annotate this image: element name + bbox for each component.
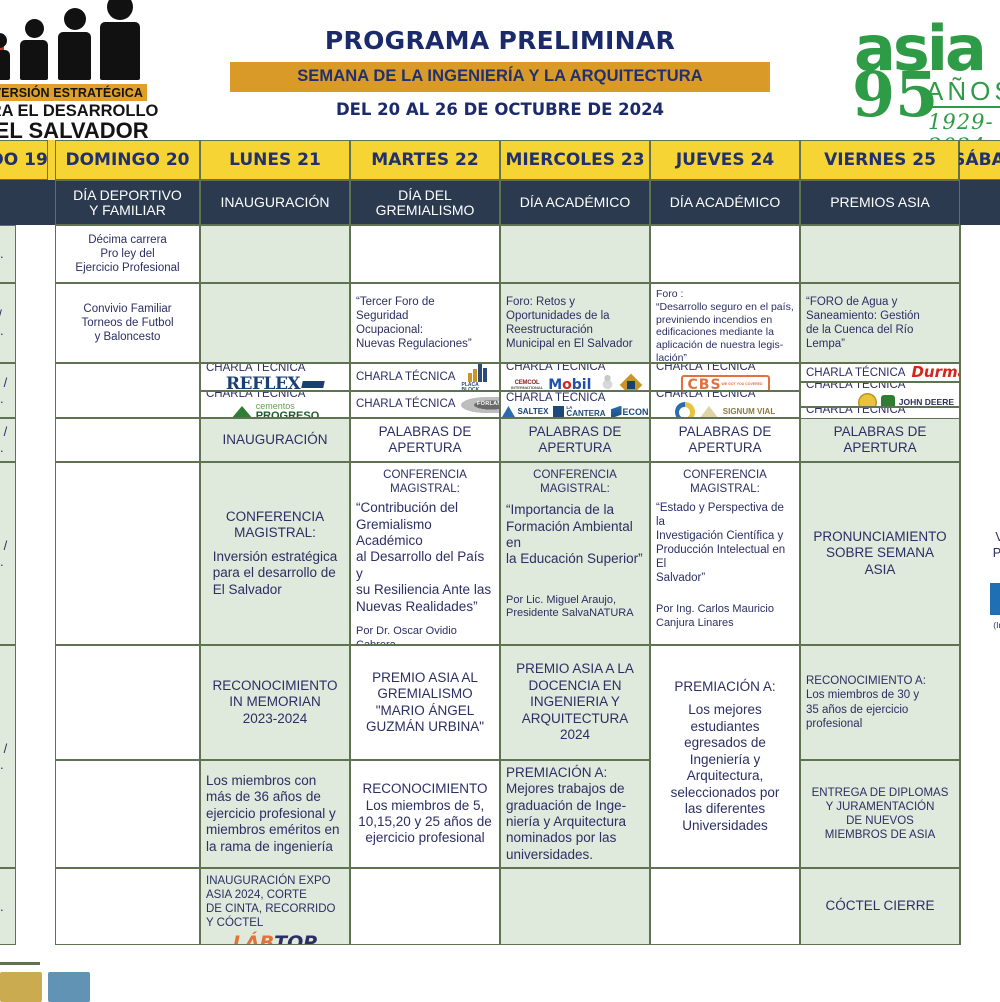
time-slot-2: m. / m.d. (0, 283, 16, 363)
time-slot-5: a.m. / p.m. (0, 462, 16, 645)
cell-miercoles-r2: Foro: Retos y Oportunidades de la Reestr… (500, 283, 650, 363)
cell-lunes-expo: INAUGURACIÓN EXPO ASIA 2024, CORTE DE CI… (200, 868, 350, 945)
cell-domingo-r6 (55, 645, 200, 760)
theme-header-row: DÍA DEPORTIVO Y FAMILIAR INAUGURACIÓN DÍ… (0, 180, 1000, 225)
day-header-viernes-25: VIERNES 25 (800, 140, 960, 180)
cell-viernes-reconocimiento: RECONOCIMIENTO A: Los miembros de 30 y 3… (800, 645, 960, 760)
visita-planta-note: Visita Planta L (Incluye t (958, 530, 1000, 630)
sponsor-logos: FORLAND (461, 397, 500, 413)
cell-jueves-apertura: PALABRAS DE APERTURA (650, 418, 800, 462)
signum-vial-logo: SIGNUM VIAL (675, 402, 775, 418)
conferencia-heading: CONFERENCIA MAGISTRAL: (656, 468, 794, 496)
durman-logo: Durmanby aliaxis (911, 365, 960, 380)
cell-martes-reconocimiento: RECONOCIMIENTO Los miembros de 5, 10,15,… (350, 760, 500, 868)
color-swatch-blue (48, 972, 90, 1002)
cell-martes-r1 (350, 225, 500, 283)
labtop-logo: LÁBTOP (206, 932, 344, 945)
conferencia-heading: CONFERENCIA MAGISTRAL: (226, 509, 324, 542)
cell-lunes-memorian: RECONOCIMIENTO IN MEMORIAN 2023-2024 (200, 645, 350, 760)
theme-premios-asia: PREMIOS ASIA (800, 180, 960, 225)
cell-miercoles-premio-docencia: PREMIO ASIA A LA DOCENCIA EN INGENIERIA … (500, 645, 650, 760)
charla-label: CHARLA TÉCNICA (656, 391, 755, 401)
cell-jueves-r8 (650, 868, 800, 945)
day-header-domingo-20: DOMINGO 20 (55, 140, 200, 180)
conferencia-speaker: Por Dr. Oscar Ovidio Cabrera, Presidente… (356, 625, 494, 645)
cell-lunes-conferencia: CONFERENCIA MAGISTRAL: Inversión estraté… (200, 462, 350, 645)
theme-dia-deportivo: DÍA DEPORTIVO Y FAMILIAR (55, 180, 200, 225)
day-header-sabado-19: SÁBADO 19 (0, 140, 48, 180)
la-cantera-logo: LACANTERA (553, 406, 605, 418)
title-block: PROGRAMA PRELIMINAR SEMANA DE LA INGENIE… (230, 26, 770, 119)
diamond-sponsor-logo (620, 373, 643, 391)
sponsor-logos: CBSWE GOT YOU COVERED (656, 375, 794, 391)
saltex-logo: SALTEX (501, 406, 548, 418)
asia-anos-label: AÑOS (926, 76, 1000, 107)
people-figures-icon (0, 8, 148, 80)
cell-martes-r8 (350, 868, 500, 945)
premiacion-heading: PREMIACIÓN A: (674, 679, 775, 695)
charla-lunes-progreso: CHARLA TÉCNICA cementosPROGRESO (200, 391, 350, 418)
time-slot-7: p.m. (0, 868, 16, 945)
page-title: PROGRAMA PRELIMINAR (230, 26, 770, 55)
charla-label: CHARLA TÉCNICA (206, 391, 305, 401)
cell-martes-premio-gremialismo: PREMIO ASIA AL GREMIALISMO "MARIO ÁNGEL … (350, 645, 500, 760)
visita-planta-footnote: (Incluye t (958, 620, 1000, 630)
cell-viernes-r2: “FORO de Agua y Saneamiento: Gestión de … (800, 283, 960, 363)
michelin-logo: MICHELIN (596, 375, 618, 391)
premiacion-body: Los mejores estudiantes egresados de Ing… (671, 702, 780, 834)
day-header-miercoles-23: MIERCOLES 23 (500, 140, 650, 180)
john-deere-logo: JOHN DEERE (858, 393, 954, 407)
logo-band: INVERSIÓN ESTRATÉGICA (0, 84, 147, 101)
day-header-martes-22: MARTES 22 (350, 140, 500, 180)
conferencia-speaker: Por Ing. Carlos Mauricio Canjura Linares (656, 603, 794, 630)
day-header-lunes-21: LUNES 21 (200, 140, 350, 180)
schedule-grid: a.m. m. / m.d. a.m. / p.m. a.m. / p.m. a… (0, 225, 1000, 947)
sponsor-logos: PLACA BLOCK (461, 363, 494, 391)
theme-dia-academico-1: DÍA ACADÉMICO (500, 180, 650, 225)
sponsor-logos: SALTEX LACANTERA ECON (506, 406, 644, 418)
cell-miercoles-r1 (500, 225, 650, 283)
reflex-logo: REFLEX (226, 376, 324, 391)
cell-miercoles-r8 (500, 868, 650, 945)
conferencia-speaker: Por Lic. Miguel Araujo, Presidente Salva… (506, 594, 644, 621)
cell-domingo-r1: Décima carrera Pro ley del Ejercicio Pro… (55, 225, 200, 283)
cementos-progreso-logo: cementosPROGRESO (231, 402, 320, 418)
time-slot-3: a.m. / p.m. (0, 363, 16, 418)
cell-miercoles-conferencia: CONFERENCIA MAGISTRAL: “Importancia de l… (500, 462, 650, 645)
cell-viernes-pronunciamiento: PRONUNCIAMIENTO SOBRE SEMANA ASIA (800, 462, 960, 645)
subtitle-band: SEMANA DE LA INGENIERÍA Y LA ARQUITECTUR… (230, 62, 770, 92)
cell-domingo-r7 (55, 760, 200, 868)
conferencia-body: Inversión estratégica para el desarrollo… (213, 549, 338, 598)
sponsor-logos: CEMCOLINTERNATIONAL Mobil MICHELIN (506, 375, 644, 391)
sponsor-logos: REFLEX (206, 376, 344, 391)
cell-viernes-r1 (800, 225, 960, 283)
theme-dia-academico-2: DÍA ACADÉMICO (650, 180, 800, 225)
conferencia-heading: CONFERENCIA MAGISTRAL: (506, 468, 644, 496)
cell-jueves-r2: Foro : “Desarrollo seguro en el país, pr… (650, 283, 800, 363)
charla-lunes-reflex: CHARLA TÉCNICA REFLEX (200, 363, 350, 391)
visita-planta-logo (990, 583, 1000, 615)
charla-label: CHARLA TÉCNICA (806, 382, 905, 392)
charla-miercoles-cemcol: CHARLA TÉCNICA CEMCOLINTERNATIONAL Mobil… (500, 363, 650, 391)
charla-miercoles-saltex: CHARLA TÉCNICA SALTEX LACANTERA ECON (500, 391, 650, 418)
cell-lunes-r2 (200, 283, 350, 363)
charla-label: CHARLA TÉCNICA (806, 366, 905, 380)
time-slot-1: a.m. (0, 225, 16, 283)
color-swatch-gold (0, 972, 42, 1002)
conferencia-body: “Estado y Perspectiva de la Investigació… (656, 501, 794, 585)
placa-block-logo: PLACA BLOCK (461, 363, 494, 391)
cell-viernes-coctel: CÓCTEL CIERRE (800, 868, 960, 945)
charla-jueves-cbs: CHARLA TÉCNICA CBSWE GOT YOU COVERED (650, 363, 800, 391)
conferencia-body: “Contribución del Gremialismo Académico … (356, 500, 494, 615)
charla-viernes-durman: CHARLA TÉCNICA Durmanby aliaxis (800, 363, 960, 382)
cell-domingo-r5 (55, 462, 200, 645)
cell-lunes-inauguracion: INAUGURACIÓN (200, 418, 350, 462)
cell-domingo-r2: Convivio Familiar Torneos de Futbol y Ba… (55, 283, 200, 363)
visita-planta-text: Visita Planta L (958, 530, 1000, 577)
charla-martes-placablock: CHARLA TÉCNICA PLACA BLOCK (350, 363, 500, 391)
cbs-logo: CBSWE GOT YOU COVERED (681, 375, 770, 391)
conferencia-body: “Importancia de la Formación Ambiental e… (506, 502, 644, 568)
sponsor-logos: Durmanby aliaxis (911, 365, 960, 380)
charla-label: CHARLA TÉCNICA (506, 363, 605, 374)
charla-viernes-johndeere: CHARLA TÉCNICA JOHN DEERE (800, 382, 960, 407)
cell-domingo-r3 (55, 363, 200, 418)
theme-dia-gremialismo: DÍA DEL GREMIALISMO (350, 180, 500, 225)
poster-header: INVERSIÓN ESTRATÉGICA PARA EL DESARROLLO… (0, 0, 1000, 140)
charla-label: CHARLA TÉCNICA (656, 363, 755, 374)
cell-martes-conferencia: CONFERENCIA MAGISTRAL: “Contribución del… (350, 462, 500, 645)
day-header-jueves-24: JUEVES 24 (650, 140, 800, 180)
cell-lunes-r1 (200, 225, 350, 283)
cell-domingo-r4 (55, 418, 200, 462)
sponsor-logos: SIGNUM VIAL (656, 402, 794, 418)
page-dates: DEL 20 AL 26 DE OCTUBRE DE 2024 (230, 100, 770, 119)
cell-lunes-miembros: Los miembros con más de 36 años de ejerc… (200, 760, 350, 868)
page-subtitle: SEMANA DE LA INGENIERÍA Y LA ARQUITECTUR… (230, 67, 770, 86)
logo-band-text: INVERSIÓN ESTRATÉGICA (0, 86, 143, 100)
asia-rule-divider (926, 106, 1000, 108)
day-header-row: SÁBADO 19 DOMINGO 20 LUNES 21 MARTES 22 … (0, 140, 1000, 180)
charla-martes-forland: CHARLA TÉCNICA FORLAND (350, 391, 500, 418)
cell-miercoles-premiacion: PREMIACIÓN A: Mejores trabajos de gradua… (500, 760, 650, 868)
cemcol-logo: CEMCOLINTERNATIONAL (511, 380, 543, 390)
cell-viernes-diplomas: ENTREGA DE DIPLOMAS Y JURAMENTACIÓN DE N… (800, 760, 960, 868)
cell-martes-apertura: PALABRAS DE APERTURA (350, 418, 500, 462)
footer-divider (0, 962, 40, 965)
program-poster: INVERSIÓN ESTRATÉGICA PARA EL DESARROLLO… (0, 0, 1000, 1000)
charla-label: CHARLA TÉCNICA (356, 370, 455, 384)
asia-95-logo: asia 95 AÑOS 1929-2024 (848, 14, 1000, 136)
charla-jueves-signum: CHARLA TÉCNICA SIGNUM VIAL (650, 391, 800, 418)
econ-logo: ECON (611, 406, 649, 418)
charla-label: CHARLA TÉCNICA (356, 397, 455, 411)
cell-viernes-apertura: PALABRAS DE APERTURA (800, 418, 960, 462)
cell-jueves-premiacion: PREMIACIÓN A: Los mejores estudiantes eg… (650, 645, 800, 868)
cell-jueves-conferencia: CONFERENCIA MAGISTRAL: “Estado y Perspec… (650, 462, 800, 645)
sponsor-logos: cementosPROGRESO (206, 402, 344, 418)
cell-miercoles-apertura: PALABRAS DE APERTURA (500, 418, 650, 462)
sponsor-logos: JOHN DEERE (806, 393, 954, 407)
theme-inauguracion: INAUGURACIÓN (200, 180, 350, 225)
inversion-estrategica-logo: INVERSIÓN ESTRATÉGICA PARA EL DESARROLLO… (0, 8, 170, 140)
expo-text: INAUGURACIÓN EXPO ASIA 2024, CORTE DE CI… (206, 874, 344, 930)
conferencia-heading: CONFERENCIA MAGISTRAL: (356, 468, 494, 496)
cell-jueves-r1 (650, 225, 800, 283)
day-header-sabado-26: SÁBADO 26 (958, 140, 1000, 180)
charla-label: CHARLA TÉCNICA (506, 391, 605, 405)
cell-martes-r2: “Tercer Foro de Seguridad Ocupacional: N… (350, 283, 500, 363)
mobil-logo: Mobil (548, 378, 591, 391)
time-slot-6: a.m. / p.m. (0, 645, 16, 868)
time-slot-4: a.m. / p.m. (0, 418, 16, 462)
forland-logo: FORLAND (461, 397, 500, 413)
cell-domingo-r8 (55, 868, 200, 945)
